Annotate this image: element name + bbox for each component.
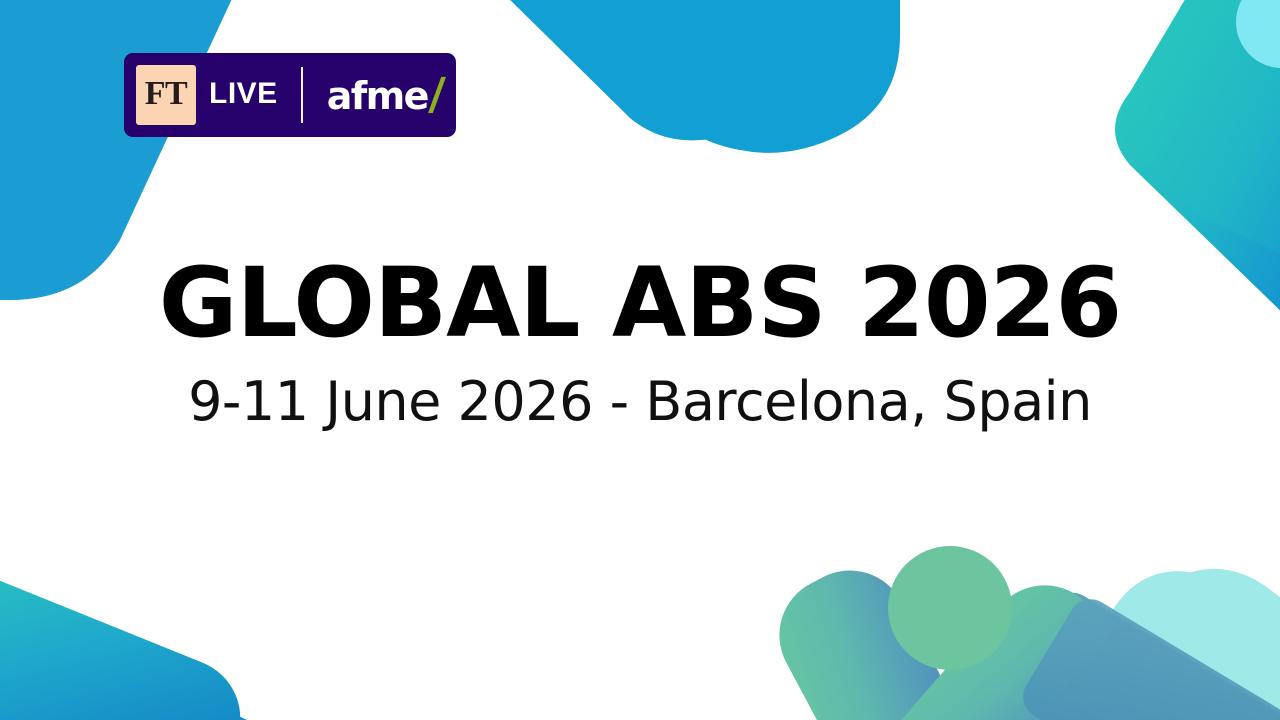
headline-block: GLOBAL ABS 2026 9-11 June 2026 - Barcelo… — [0, 255, 1280, 429]
logo-divider — [301, 67, 303, 123]
ft-live-label: LIVE — [209, 79, 278, 109]
afme-logo-icon: afme / — [327, 73, 445, 117]
event-title: GLOBAL ABS 2026 — [0, 255, 1280, 351]
shape-bottom-right-steel-blue-chevron — [900, 585, 1280, 720]
shape-bottom-left-teal-blue-band — [0, 528, 330, 720]
ft-logo-letters: FT — [145, 77, 187, 111]
event-subtitle: 9-11 June 2026 - Barcelona, Spain — [0, 375, 1280, 429]
shape-top-center-blue-block — [475, 0, 900, 153]
slide-canvas: FT LIVE afme / GLOBAL ABS 2026 9-11 June… — [0, 0, 1280, 720]
ft-live-afme-logo-lockup[interactable]: FT LIVE afme / — [124, 53, 456, 137]
afme-logo-word: afme — [327, 77, 428, 115]
shape-bottom-right-pale-cyan-chevron — [1000, 542, 1280, 720]
shape-bottom-right-steel-overlap — [1015, 591, 1280, 720]
ft-logo-icon: FT — [136, 65, 196, 125]
shape-bottom-right-green-teal-chevron — [759, 546, 1137, 720]
afme-logo-slash: / — [428, 73, 446, 117]
shape-top-right-cyan-circle — [1236, 0, 1280, 68]
